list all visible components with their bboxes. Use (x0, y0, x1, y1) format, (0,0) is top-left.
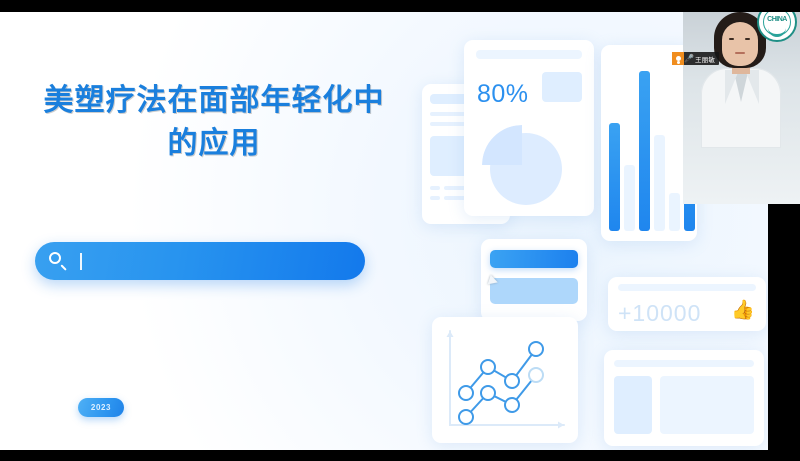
placeholder-line (614, 360, 754, 367)
speaker-lapel-right (745, 70, 759, 104)
speaker-face (722, 22, 758, 66)
line-series-upper (466, 349, 536, 393)
pie-slice-minor (482, 125, 522, 165)
microphone-icon: 🎤 (684, 52, 694, 65)
presentation-slide: 美塑疗法在面部年轻化中 的应用 2023 80% (0, 12, 800, 450)
placeholder-block (542, 72, 582, 102)
speaker-name-badge: 🎤 王丽敏 (672, 52, 719, 65)
placeholder-block (660, 376, 754, 434)
placeholder-block (614, 376, 652, 434)
placeholder-line (430, 196, 440, 200)
logo-arc-icon (768, 25, 786, 37)
letterbox-right (768, 204, 800, 450)
metric-value: +10000 (618, 300, 701, 327)
page-title: 美塑疗法在面部年轻化中 的应用 (14, 80, 414, 165)
search-icon (49, 252, 68, 271)
bar (654, 135, 665, 231)
placeholder-line (430, 186, 440, 190)
logo-text: CHINA (759, 16, 795, 23)
bar (639, 71, 650, 231)
axis-arrow-y (447, 331, 454, 337)
letterbox-bottom (0, 450, 800, 461)
speaker-lapel-left (725, 70, 739, 104)
illustration-card-bottom-right (604, 350, 764, 446)
row-highlighted (490, 250, 578, 268)
screen: 美塑疗法在面部年轻化中 的应用 2023 80% (0, 0, 800, 461)
bar-chart (609, 57, 689, 231)
percent-label: 80% (477, 80, 529, 109)
pie-chart (482, 125, 562, 205)
bar (669, 193, 680, 231)
bar (609, 123, 620, 231)
speaker-name: 王丽敏 (694, 54, 715, 64)
letterbox-top (0, 0, 800, 12)
search-input[interactable] (35, 242, 365, 280)
thumbs-up-icon: 👍 (731, 301, 751, 321)
text-cursor (80, 253, 82, 270)
person-avatar-icon (672, 52, 684, 65)
year-badge: 2023 (78, 398, 124, 417)
placeholder-line (476, 50, 582, 59)
placeholder-line (618, 284, 756, 291)
bar (624, 165, 635, 231)
row-plain (490, 278, 578, 304)
axis-arrow-x (558, 422, 564, 429)
line-chart (432, 317, 578, 443)
